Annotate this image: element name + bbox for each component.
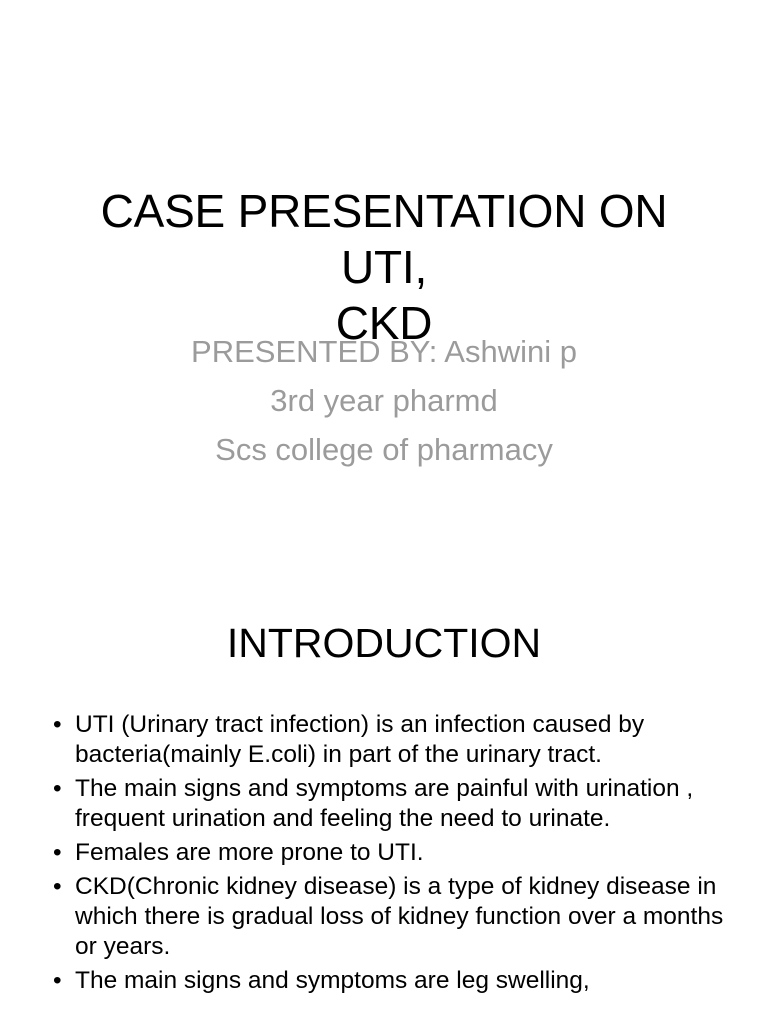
bullet-marker-icon: • <box>53 872 67 902</box>
presenter-name-line: PRESENTED BY: Ashwini p <box>84 327 684 376</box>
introduction-bullet-list: • UTI (Urinary tract infection) is an in… <box>49 710 729 1000</box>
presenter-year-line: 3rd year pharmd <box>84 376 684 425</box>
bullet-marker-icon: • <box>53 966 67 996</box>
page-title: CASE PRESENTATION ON UTI, CKD <box>56 183 712 351</box>
document-page: CASE PRESENTATION ON UTI, CKD PRESENTED … <box>0 0 768 1024</box>
section-heading-introduction: INTRODUCTION <box>56 617 712 669</box>
list-item-text: The main signs and symptoms are painful … <box>75 774 729 834</box>
presenter-college-line: Scs college of pharmacy <box>84 425 684 474</box>
bullet-marker-icon: • <box>53 774 67 804</box>
list-item-text: Females are more prone to UTI. <box>75 838 729 868</box>
title-slide-block: CASE PRESENTATION ON UTI, CKD <box>56 183 712 351</box>
list-item: • UTI (Urinary tract infection) is an in… <box>49 710 729 770</box>
list-item-text: UTI (Urinary tract infection) is an infe… <box>75 710 729 770</box>
list-item: • Females are more prone to UTI. <box>49 838 729 868</box>
list-item: • CKD(Chronic kidney disease) is a type … <box>49 872 729 962</box>
presenter-info-block: PRESENTED BY: Ashwini p 3rd year pharmd … <box>84 327 684 474</box>
list-item-text: The main signs and symptoms are leg swel… <box>75 966 729 996</box>
bullet-marker-icon: • <box>53 710 67 740</box>
list-item: • The main signs and symptoms are leg sw… <box>49 966 729 996</box>
list-item: • The main signs and symptoms are painfu… <box>49 774 729 834</box>
list-item-text: CKD(Chronic kidney disease) is a type of… <box>75 872 729 962</box>
bullet-marker-icon: • <box>53 838 67 868</box>
